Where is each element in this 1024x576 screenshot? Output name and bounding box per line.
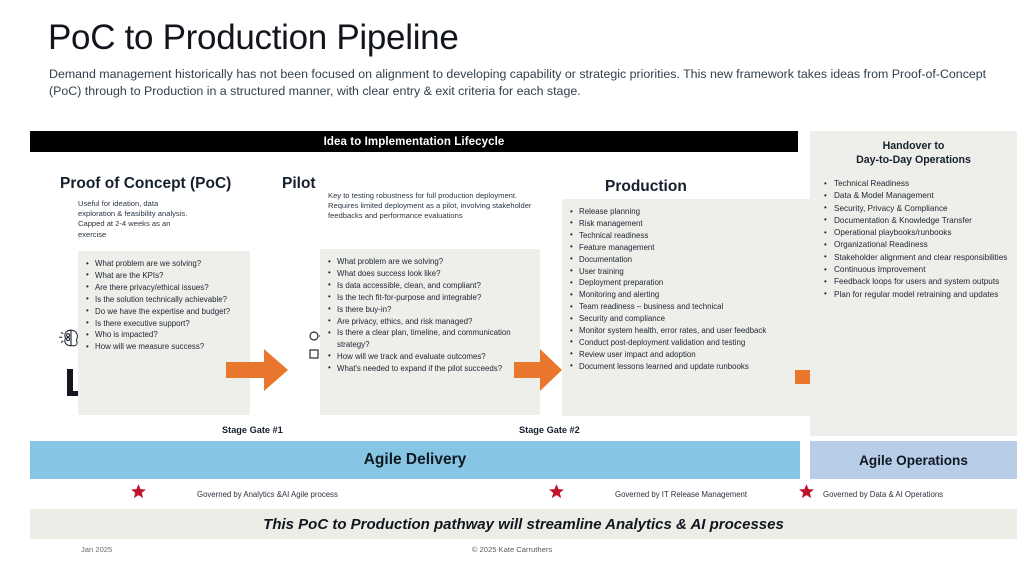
stage-description-pilot: Key to testing robustness for full produ… [328, 191, 543, 222]
list-item: Review user impact and adoption [568, 349, 804, 360]
agile-operations-band: Agile Operations [810, 441, 1017, 479]
stage-gate-2-label: Stage Gate #2 [519, 425, 580, 435]
arrow-poc-to-pilot-icon [226, 349, 288, 396]
star-icon [130, 483, 147, 505]
list-item: Is data accessible, clean, and compliant… [326, 280, 532, 291]
list-item: Security, Privacy & Compliance [823, 203, 1009, 215]
list-item: Security and compliance [568, 313, 804, 324]
list-item: Conduct post-deployment validation and t… [568, 337, 804, 348]
list-item: Monitor system health, error rates, and … [568, 325, 804, 336]
page-subtitle: Demand management historically has not b… [49, 66, 1004, 100]
agile-delivery-band: Agile Delivery [30, 441, 800, 479]
list-item: Organizational Readiness [823, 239, 1009, 251]
lifecycle-band: Idea to Implementation Lifecycle Proof o… [30, 131, 798, 436]
list-item: How will we measure success? [84, 341, 242, 352]
stage-gate-1-label: Stage Gate #1 [222, 425, 283, 435]
list-item: Is there a clear plan, timeline, and com… [326, 327, 532, 350]
list-item: Is the tech fit-for-purpose and integrab… [326, 292, 532, 303]
list-item: Documentation & Knowledge Transfer [823, 215, 1009, 227]
handover-title-line2: Day-to-Day Operations [856, 154, 971, 166]
handover-bullet-list: Technical Readiness Data & Model Managem… [823, 178, 1009, 300]
list-item: Release planning [568, 206, 804, 217]
handover-title: Handover to Day-to-Day Operations [810, 139, 1017, 167]
list-item: What are the KPIs? [84, 270, 242, 281]
list-item: Documentation [568, 254, 804, 265]
list-item: What problem are we solving? [326, 256, 532, 267]
list-item: Technical readiness [568, 230, 804, 241]
list-item: Continuous Improvement [823, 264, 1009, 276]
page-title: PoC to Production Pipeline [48, 18, 459, 58]
list-item: Is the solution technically achievable? [84, 294, 242, 305]
list-item: Stakeholder alignment and clear responsi… [823, 252, 1009, 264]
tagline-banner: This PoC to Production pathway will stre… [30, 509, 1017, 539]
stage-title-production: Production [605, 178, 687, 196]
list-item: Document lessons learned and update runb… [568, 361, 804, 372]
list-item: Deployment preparation [568, 277, 804, 288]
stage-description-poc: Useful for ideation, data exploration & … [78, 199, 188, 240]
list-item: What does success look like? [326, 268, 532, 279]
list-item: What problem are we solving? [84, 258, 242, 269]
star-icon [548, 483, 565, 505]
poc-criteria-box: What problem are we solving? What are th… [78, 251, 250, 415]
governance-item-analytics: Governed by Analytics &AI Agile process [130, 483, 338, 505]
slide-canvas: PoC to Production Pipeline Demand manage… [0, 0, 1024, 576]
list-item: Plan for regular model retraining and up… [823, 289, 1009, 301]
list-item: Operational playbooks/runbooks [823, 227, 1009, 239]
list-item: Monitoring and alerting [568, 289, 804, 300]
handover-panel: Handover to Day-to-Day Operations Techni… [810, 131, 1017, 436]
list-item: Is there buy-in? [326, 304, 532, 315]
list-item: Feedback loops for users and system outp… [823, 276, 1009, 288]
governance-label: Governed by Data & AI Operations [823, 490, 943, 499]
list-item: User training [568, 266, 804, 277]
list-item: Technical Readiness [823, 178, 1009, 190]
lifecycle-band-label: Idea to Implementation Lifecycle [30, 131, 798, 152]
stage-title-poc: Proof of Concept (PoC) [60, 175, 231, 193]
poc-bullet-list: What problem are we solving? What are th… [84, 258, 242, 353]
list-item: How will we track and evaluate outcomes? [326, 351, 532, 362]
governance-item-data-ai-ops: Governed by Data & AI Operations [798, 483, 943, 505]
pilot-bullet-list: What problem are we solving? What does s… [326, 256, 532, 374]
list-item: Feature management [568, 242, 804, 253]
pilot-criteria-box: What problem are we solving? What does s… [320, 249, 540, 415]
list-item: Are privacy, ethics, and risk managed? [326, 316, 532, 327]
governance-label: Governed by Analytics &AI Agile process [197, 490, 338, 499]
star-icon [798, 483, 815, 505]
stage-title-pilot: Pilot [282, 175, 316, 193]
production-bullet-list: Release planning Risk management Technic… [568, 206, 804, 372]
governance-item-it-release: Governed by IT Release Management [548, 483, 747, 505]
footer-copyright: © 2025 Kate Carruthers [0, 545, 1024, 554]
production-criteria-box: Release planning Risk management Technic… [562, 199, 812, 416]
list-item: Who is impacted? [84, 329, 242, 340]
handover-title-line1: Handover to [883, 140, 945, 152]
governance-label: Governed by IT Release Management [615, 490, 747, 499]
list-item: What's needed to expand if the pilot suc… [326, 363, 532, 374]
list-item: Do we have the expertise and budget? [84, 306, 242, 317]
list-item: Risk management [568, 218, 804, 229]
list-item: Data & Model Management [823, 190, 1009, 202]
list-item: Team readiness – business and technical [568, 301, 804, 312]
list-item: Are there privacy/ethical issues? [84, 282, 242, 293]
list-item: Is there executive support? [84, 318, 242, 329]
arrow-pilot-to-production-icon [514, 349, 562, 396]
